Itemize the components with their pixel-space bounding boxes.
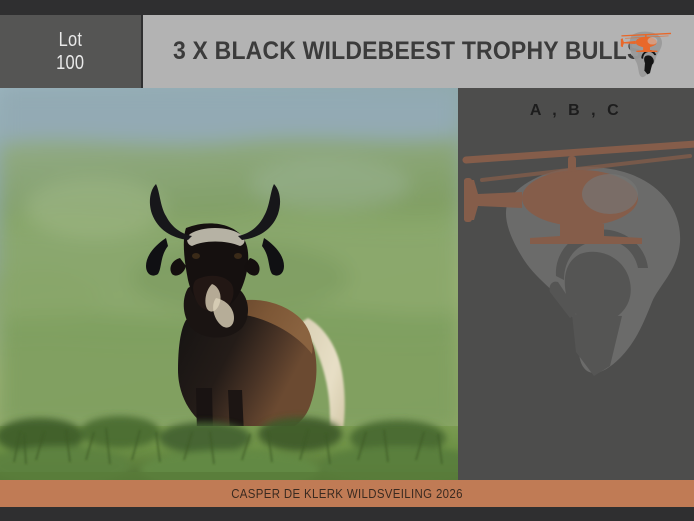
lot-number: 100 bbox=[56, 52, 84, 75]
card-header: Lot 100 3 X BLACK WILDEBEEST TROPHY BULL… bbox=[0, 15, 694, 88]
footer-accent-bar: CASPER DE KLERK WILDSVEILING 2026 bbox=[0, 480, 694, 507]
lot-label: Lot bbox=[59, 29, 83, 52]
helicopter-africa-watermark-icon bbox=[458, 136, 694, 386]
helicopter-africa-logo-icon bbox=[612, 21, 678, 83]
lot-number-block: Lot 100 bbox=[0, 15, 141, 88]
footer-caption: CASPER DE KLERK WILDSVEILING 2026 bbox=[42, 480, 653, 507]
auction-lot-card: Lot 100 3 X BLACK WILDEBEEST TROPHY BULL… bbox=[0, 0, 694, 521]
bottom-frame-strip bbox=[0, 507, 694, 521]
black-wildebeest-photo bbox=[0, 88, 458, 480]
lot-title: 3 X BLACK WILDEBEEST TROPHY BULLS bbox=[173, 15, 643, 88]
animal-codes: A , B , C bbox=[458, 102, 694, 120]
top-frame-strip bbox=[0, 0, 694, 15]
title-bar: 3 X BLACK WILDEBEEST TROPHY BULLS bbox=[143, 15, 694, 88]
right-info-panel: A , B , C bbox=[458, 88, 694, 480]
